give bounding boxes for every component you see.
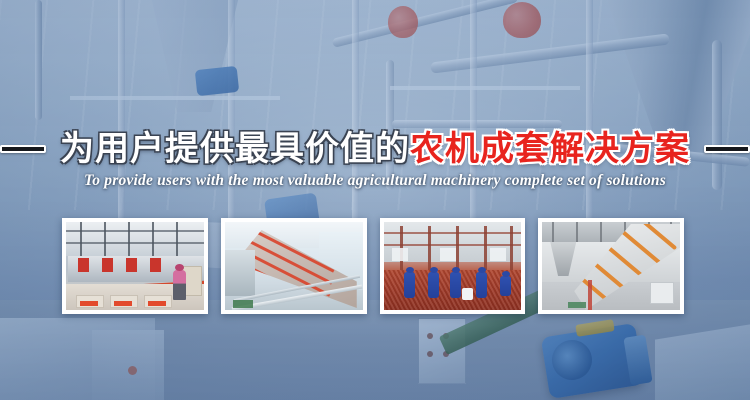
thumbnail-factory-production-line[interactable]	[62, 218, 208, 314]
background-haze	[0, 0, 750, 400]
photo-inclined-conveyor-red-product	[225, 222, 363, 310]
photo-belt-conveyor-orange-produce	[542, 222, 680, 310]
photo-factory-production-line	[66, 222, 204, 310]
photo-chili-drying-workers	[384, 222, 522, 310]
thumbnail-strip	[62, 218, 684, 314]
headline-text: 为用户提供最具价值的农机成套解决方案	[60, 129, 690, 169]
right-dash-icon	[704, 145, 750, 153]
promo-banner: 为用户提供最具价值的农机成套解决方案 To provide users with…	[0, 0, 750, 400]
headline-white-part: 为用户提供最具价值的	[60, 129, 410, 169]
thumbnail-chili-drying[interactable]	[380, 218, 526, 314]
thumbnail-belt-conveyor-produce[interactable]	[538, 218, 684, 314]
left-dash-icon	[0, 145, 46, 153]
thumbnail-inclined-conveyor[interactable]	[221, 218, 367, 314]
headline-red-part: 农机成套解决方案	[410, 129, 690, 169]
background-image	[0, 0, 750, 400]
headline-row: 为用户提供最具价值的农机成套解决方案	[0, 126, 750, 172]
subtitle-text: To provide users with the most valuable …	[0, 172, 750, 190]
